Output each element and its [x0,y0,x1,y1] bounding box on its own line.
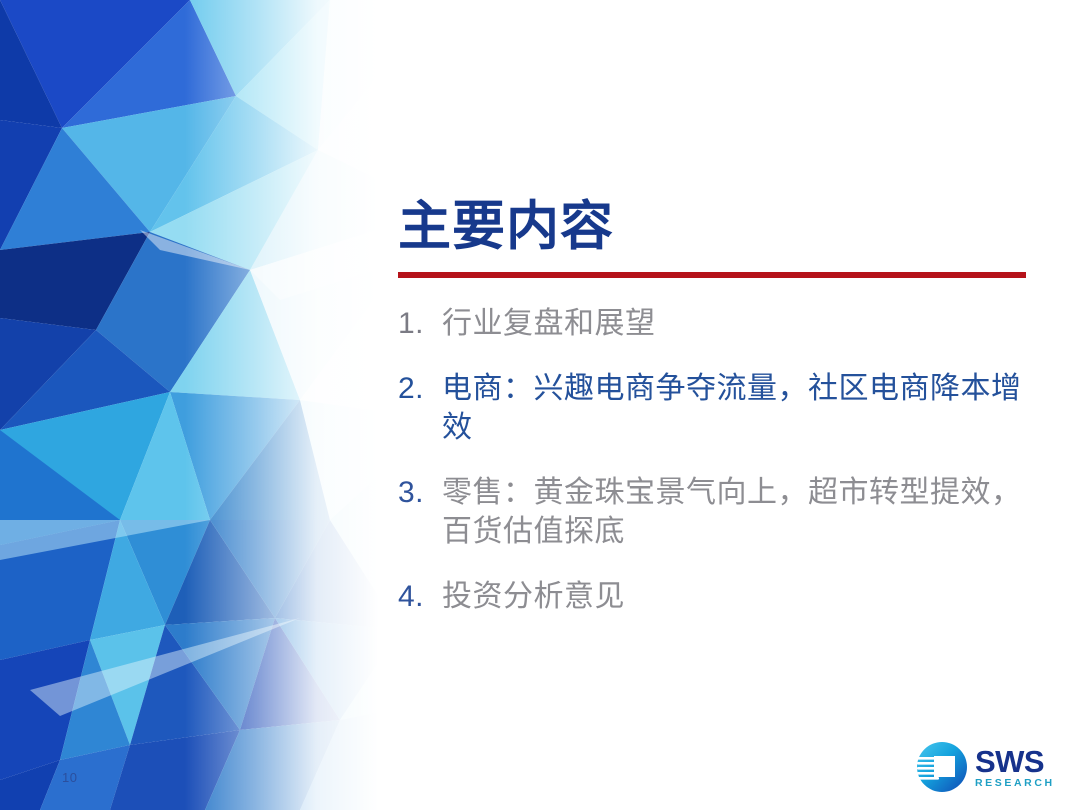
table-of-contents: 1. 行业复盘和展望 2. 电商：兴趣电商争夺流量，社区电商降本增效 3. 零售… [398,304,1030,616]
toc-item-1[interactable]: 1. 行业复盘和展望 [398,304,1030,343]
sws-logo-text: SWS RESEARCH [975,746,1055,789]
page-title: 主要内容 [398,200,1030,256]
toc-item-2[interactable]: 2. 电商：兴趣电商争夺流量，社区电商降本增效 [398,369,1030,447]
slide: 10 主要内容 1. 行业复盘和展望 2. 电商：兴趣电商争夺流量，社区电商降本… [0,0,1080,810]
toc-item-4-number: 4. [398,577,442,616]
toc-item-1-label: 行业复盘和展望 [442,304,1030,343]
logo-wordmark: SWS [975,746,1055,777]
low-poly-blue-triangles-decoration [0,0,440,810]
toc-item-1-number: 1. [398,304,442,343]
toc-item-2-number: 2. [398,369,442,408]
page-number: 10 [62,770,77,785]
title-underline-rule [398,272,1026,278]
logo-subtitle: RESEARCH [975,778,1055,789]
toc-item-3[interactable]: 3. 零售：黄金珠宝景气向上，超市转型提效，百货估值探底 [398,473,1030,551]
toc-item-2-label: 电商：兴趣电商争夺流量，社区电商降本增效 [442,369,1030,447]
slide-content: 主要内容 1. 行业复盘和展望 2. 电商：兴趣电商争夺流量，社区电商降本增效 … [398,200,1030,616]
sws-research-logo: SWS RESEARCH [916,738,1062,796]
toc-item-4[interactable]: 4. 投资分析意见 [398,577,1030,616]
sws-circle-mark-icon [916,741,968,793]
toc-item-3-label: 零售：黄金珠宝景气向上，超市转型提效，百货估值探底 [442,473,1030,551]
toc-item-3-number: 3. [398,473,442,512]
toc-item-4-label: 投资分析意见 [442,577,1030,616]
